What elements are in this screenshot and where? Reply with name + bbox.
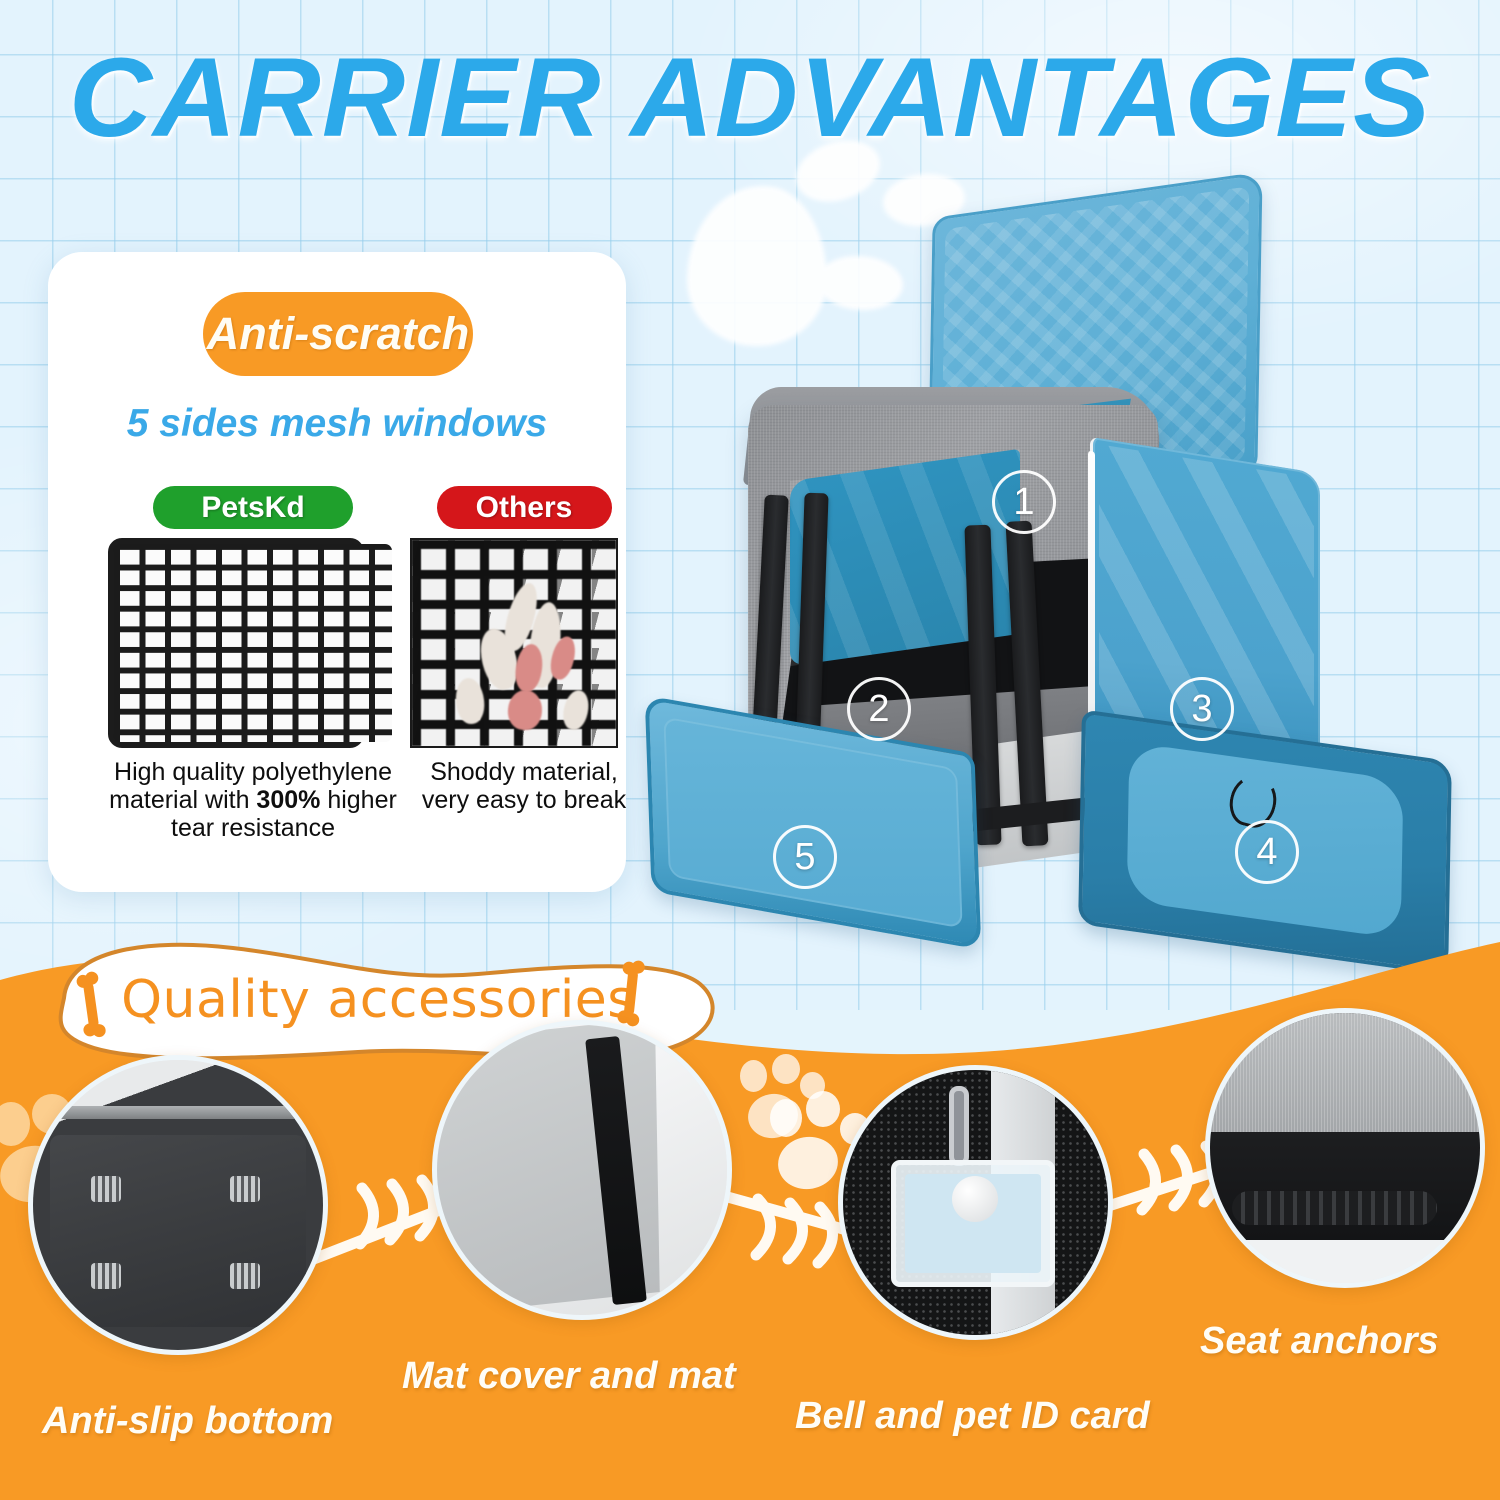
- caption-bad-line1: Shoddy material,: [430, 758, 618, 786]
- comparison-good: PetsKd High quality polyethylene materia…: [108, 486, 398, 842]
- brand-tag-petskd: PetsKd: [153, 486, 353, 529]
- accessory-label-seat-anchors: Seat anchors: [1200, 1320, 1439, 1363]
- accessory-photo-anti-slip-bottom: [28, 1055, 328, 1355]
- caption-good-line2-post: higher: [320, 786, 396, 814]
- accessory-label-bell-id-card: Bell and pet ID card: [795, 1395, 1150, 1438]
- page-title: CARRIER ADVANTAGES: [0, 42, 1500, 154]
- caption-bad: Shoddy material, very easy to break: [410, 758, 638, 814]
- brand-tag-others: Others: [437, 486, 612, 529]
- product-photo-carrier: 1 2 3 4 5: [640, 165, 1500, 965]
- carrier-badge-3: 3: [1170, 677, 1234, 741]
- caption-good-percent: 300%: [256, 786, 320, 814]
- accessory-label-mat-cover: Mat cover and mat: [402, 1355, 736, 1398]
- accessory-label-anti-slip-bottom: Anti-slip bottom: [42, 1400, 333, 1443]
- mesh-windows-subhead: 5 sides mesh windows: [48, 402, 626, 446]
- anti-scratch-card: Anti-scratch 5 sides mesh windows PetsKd…: [48, 252, 626, 892]
- anti-scratch-badge: Anti-scratch: [203, 292, 473, 376]
- carrier-badge-1: 1: [992, 470, 1056, 534]
- accessories-section: Quality accessories: [0, 920, 1500, 1500]
- accessory-photo-seat-anchors: [1205, 1008, 1485, 1288]
- comparison-bad: Others Shoddy material, very easy t: [410, 486, 638, 814]
- carrier-badge-4: 4: [1235, 820, 1299, 884]
- caption-good: High quality polyethylene material with …: [108, 758, 398, 842]
- mesh-swatch-good: [108, 538, 398, 748]
- carrier-badge-5: 5: [773, 825, 837, 889]
- caption-good-line2-pre: material with: [109, 786, 256, 814]
- infographic-stage: CARRIER ADVANTAGES Anti-scratch 5 sides …: [0, 0, 1500, 1500]
- caption-bad-line2: very easy to break: [422, 786, 626, 814]
- caption-good-line3: tear resistance: [171, 814, 335, 842]
- caption-good-line1: High quality polyethylene: [114, 758, 392, 786]
- accessory-photo-bell-id-card: [838, 1065, 1113, 1340]
- accessory-photo-mat-cover: [432, 1020, 732, 1320]
- mesh-swatch-bad: [410, 538, 638, 748]
- carrier-badge-2: 2: [847, 677, 911, 741]
